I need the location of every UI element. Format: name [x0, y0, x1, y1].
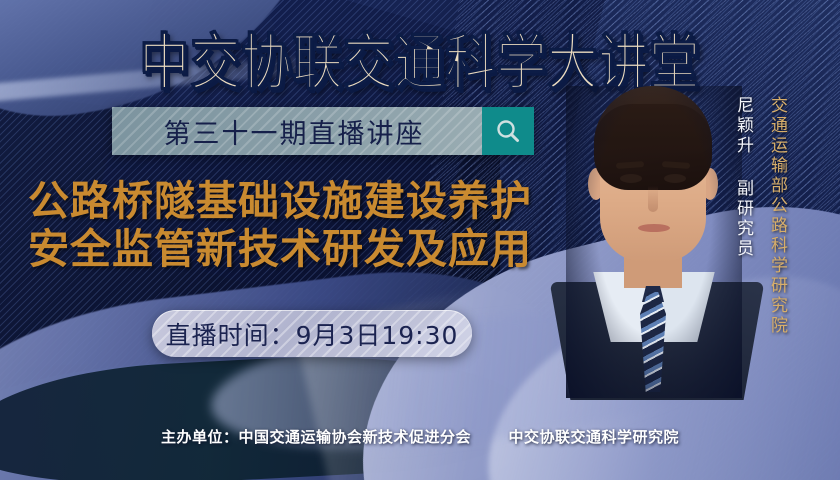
headline-line-2: 安全监管新技术研发及应用 — [28, 226, 584, 274]
speaker-organization: 交通运输部公路科学研究院 — [765, 96, 790, 336]
episode-banner: 第三十一期直播讲座 — [112, 107, 534, 155]
footer-organizers: 主办单位：中国交通运输协会新技术促进分会 中交协联交通科学研究院 — [0, 426, 840, 447]
broadcast-time-pill: 直播时间：9月3日19:30 — [152, 310, 472, 357]
footer-organizer-secondary: 中交协联交通科学研究院 — [508, 428, 679, 446]
speaker-portrait — [566, 86, 742, 398]
headline-line-1: 公路桥隧基础设施建设养护 — [28, 178, 584, 226]
speaker-name-title: 尼颖升 副研究员 — [731, 96, 756, 259]
broadcast-time-text: 直播时间：9月3日19:30 — [166, 316, 459, 352]
footer-organizer-primary: 主办单位：中国交通运输协会新技术促进分会 — [161, 428, 471, 446]
search-icon[interactable] — [482, 107, 534, 155]
lecture-headline: 公路桥隧基础设施建设养护 安全监管新技术研发及应用 — [28, 178, 584, 273]
livestream-poster: 中交协联交通科学大讲堂 第三十一期直播讲座 公路桥隧基础设施建设养护 安全监管新… — [0, 0, 840, 480]
episode-label: 第三十一期直播讲座 — [112, 107, 482, 155]
portrait-vignette — [566, 86, 742, 398]
